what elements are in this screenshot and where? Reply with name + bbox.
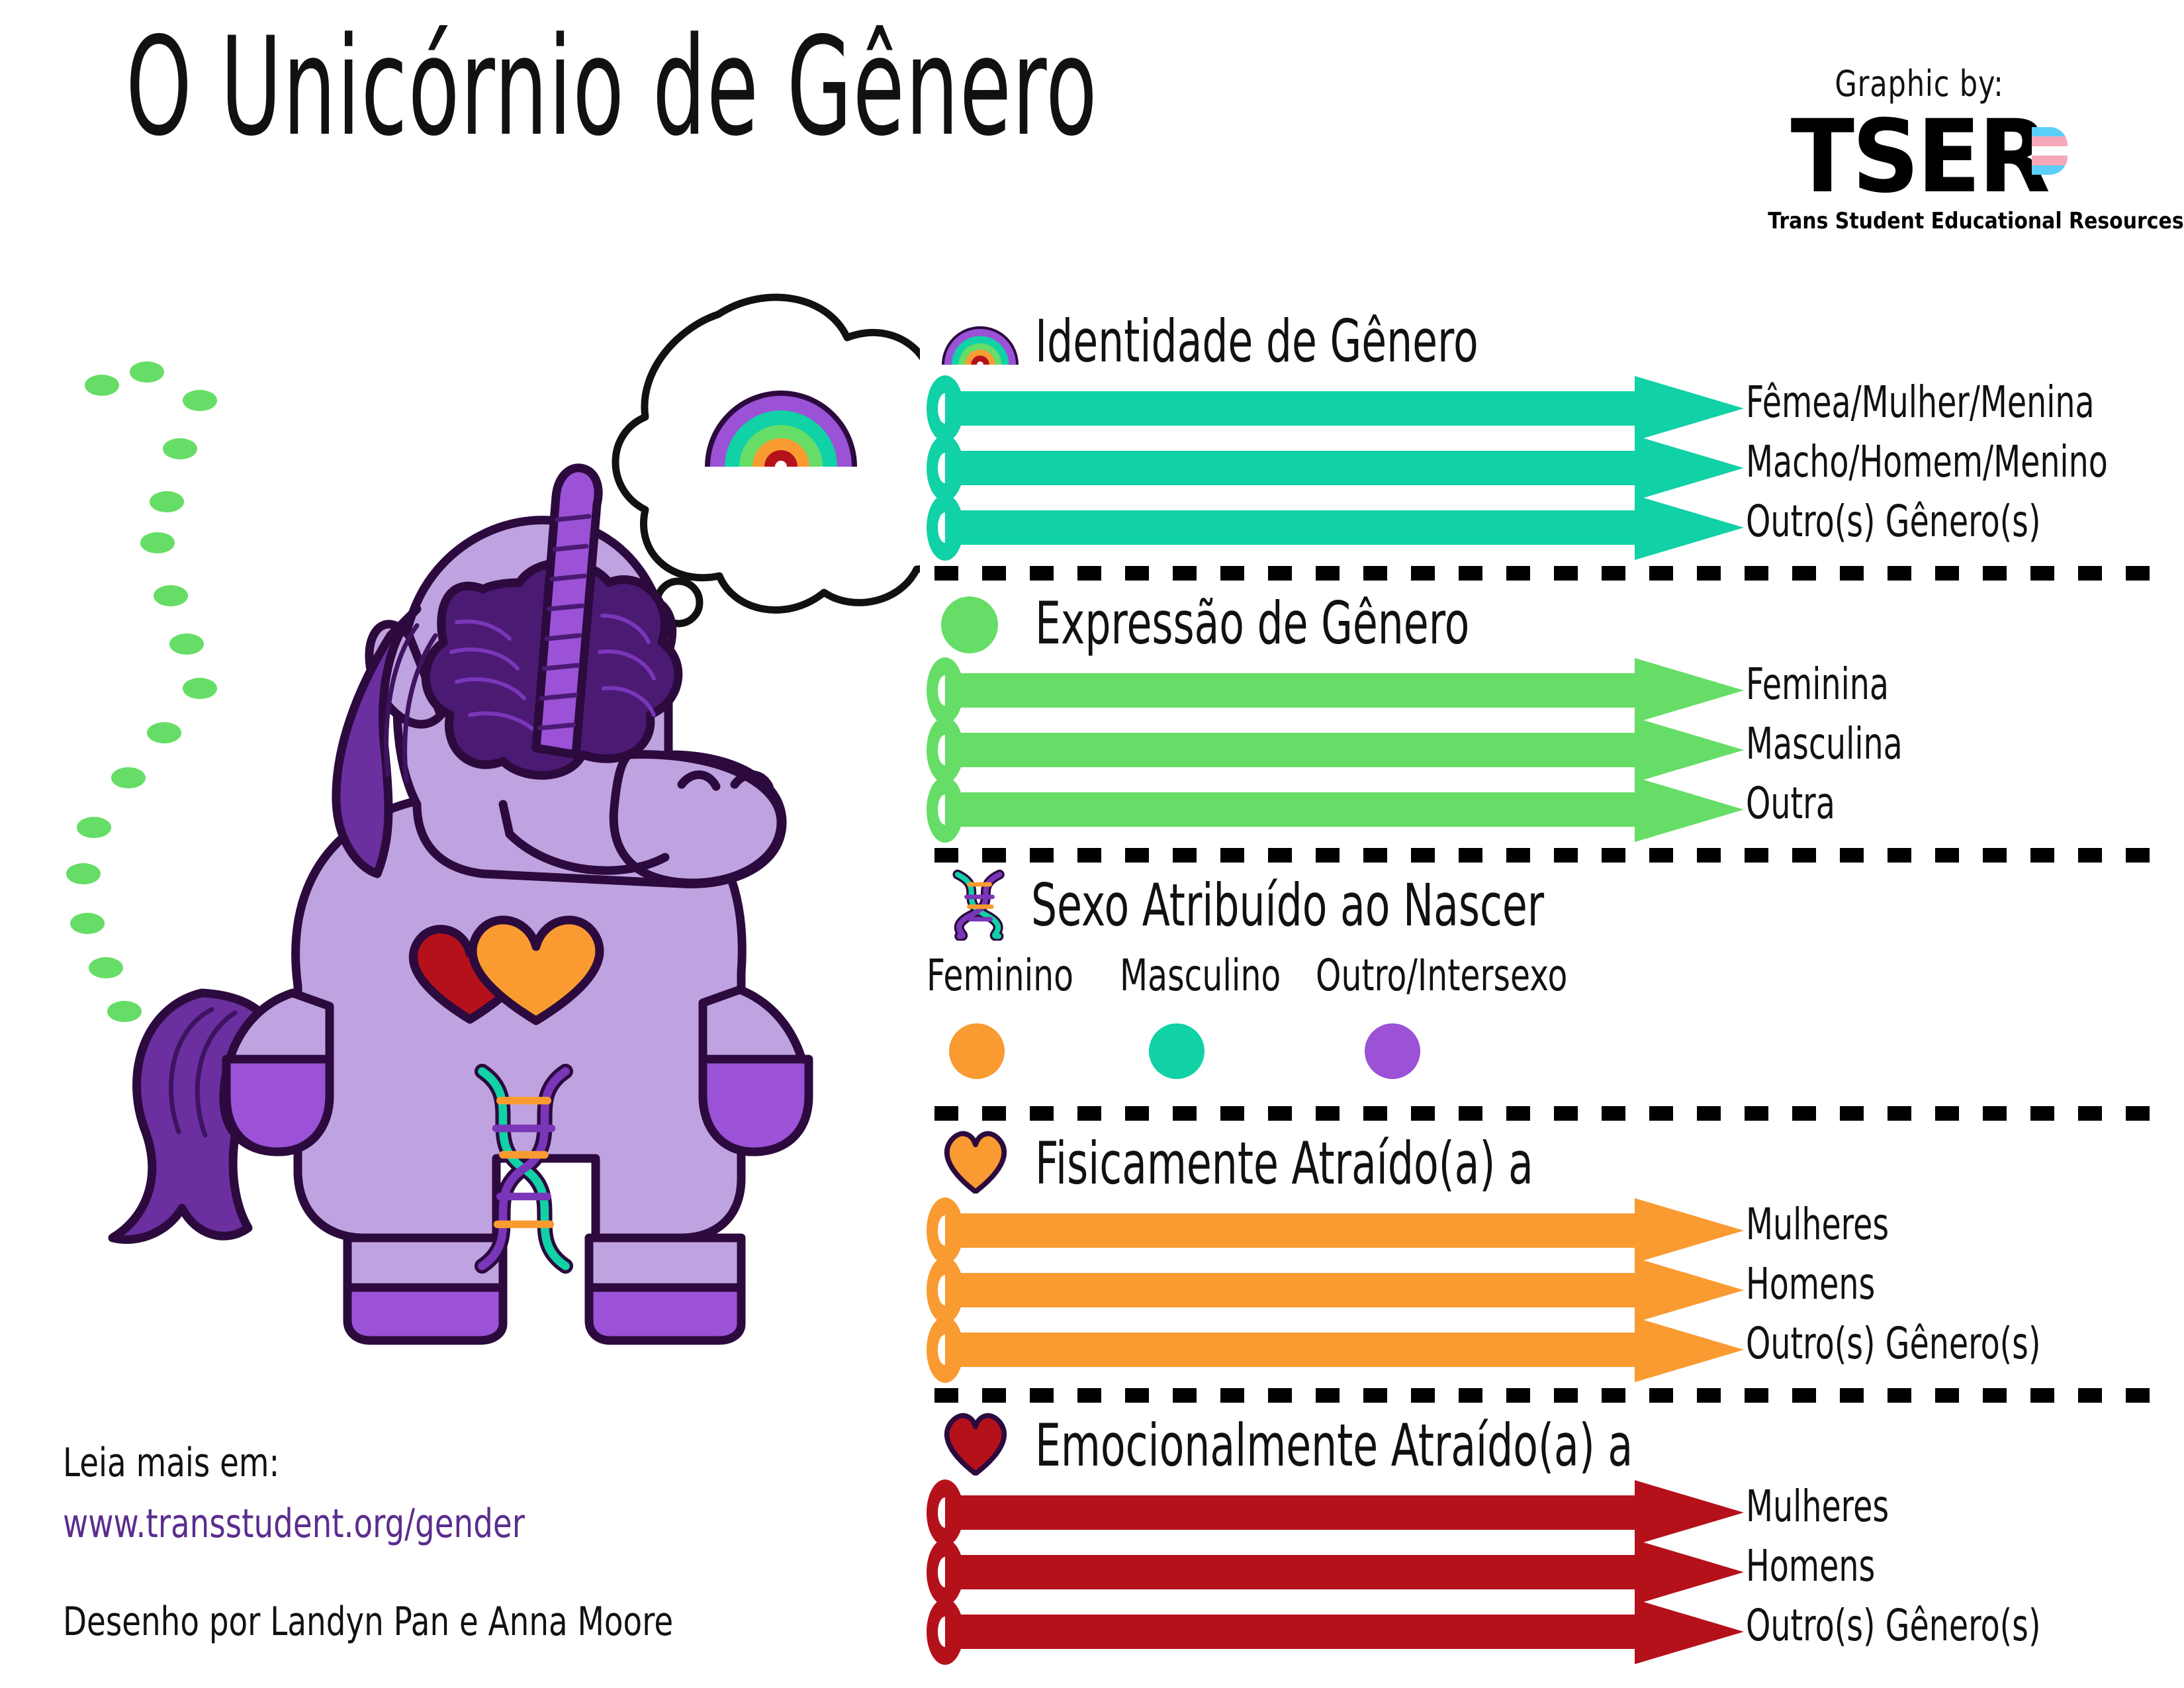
arrow-shaft xyxy=(945,1495,1639,1530)
sex-option-label: Feminino xyxy=(927,950,1073,1001)
arrow-head xyxy=(1635,658,1744,723)
arrow-shaft xyxy=(945,391,1639,426)
sex-option-female[interactable]: Feminino xyxy=(927,950,1125,1079)
arrow-label: Homens xyxy=(1746,1540,1875,1591)
section-title: Sexo Atribuído ao Nascer xyxy=(1031,871,1544,939)
red-heart-icon xyxy=(941,1409,1019,1481)
arrow-shaft xyxy=(945,1213,1639,1248)
sex-option-other-intersex[interactable]: Outro/Intersexo xyxy=(1316,950,1656,1079)
section-gender-identity: Identidade de Gênero Fêmea/Mulher/Menina… xyxy=(927,301,2164,555)
arrow-head xyxy=(1635,495,1744,560)
read-more-label: Leia mais em: xyxy=(63,1440,525,1486)
transstudent-link[interactable]: www.transstudent.org/gender xyxy=(63,1501,525,1547)
tser-subtitle: Trans Student Educational Resources xyxy=(1768,208,2071,234)
arrow-label: Mulheres xyxy=(1746,1481,1889,1532)
section-header: Emocionalmente Atraído(a) a xyxy=(927,1405,2164,1485)
arrow-label: Outro(s) Gênero(s) xyxy=(1746,1600,2040,1651)
unicorn-illustration xyxy=(46,291,920,1350)
arrow-row: Homens xyxy=(927,1262,2164,1318)
arrow-label: Mulheres xyxy=(1746,1199,1889,1250)
sections-column: Identidade de Gênero Fêmea/Mulher/Menina… xyxy=(927,301,2164,1660)
arrow-row: Outro(s) Gênero(s) xyxy=(927,500,2164,555)
green-dot-arc xyxy=(66,361,217,1091)
arrow-row: Fêmea/Mulher/Menina xyxy=(927,381,2164,436)
sex-options: Feminino Masculino Outro/Intersexo xyxy=(927,950,2164,1096)
arrow-rows: Mulheres Homens Outro(s) Gênero(s) xyxy=(927,1485,2164,1660)
orange-heart-icon xyxy=(941,1127,1019,1199)
trans-flag-icon xyxy=(2032,127,2068,175)
arrow-label: Homens xyxy=(1746,1258,1875,1309)
arrow-head xyxy=(1635,376,1744,441)
arrow-shaft xyxy=(945,792,1639,827)
arrow-row: Outro(s) Gênero(s) xyxy=(927,1604,2164,1660)
section-title: Expressão de Gênero xyxy=(1035,589,1469,657)
tser-logo-block: Graphic by: TSER Trans Student Education… xyxy=(1747,63,2091,234)
sex-option-label: Masculino xyxy=(1120,950,1281,1001)
sex-option-dot xyxy=(1149,1023,1205,1079)
arrow-rows: Fêmea/Mulher/Menina Macho/Homem/Menino O… xyxy=(927,381,2164,555)
arrow-head xyxy=(1635,777,1744,842)
section-header: Sexo Atribuído ao Nascer xyxy=(927,865,2164,945)
arrow-head xyxy=(1635,1258,1744,1323)
section-emotionally-attracted-to: Emocionalmente Atraído(a) a Mulheres Hom… xyxy=(927,1405,2164,1660)
arrow-row: Feminina xyxy=(927,663,2164,718)
section-gender-expression: Expressão de Gênero Feminina Masculina xyxy=(927,583,2164,837)
section-header: Identidade de Gênero xyxy=(927,301,2164,381)
infographic-page: O Unicórnio de Gênero Graphic by: TSER T… xyxy=(0,0,2184,1688)
arrow-label: Macho/Homem/Menino xyxy=(1746,436,2108,487)
arrow-label: Fêmea/Mulher/Menina xyxy=(1746,377,2095,428)
arrow-shaft xyxy=(945,1333,1639,1367)
arrow-shaft xyxy=(945,673,1639,708)
arrow-head xyxy=(1635,1198,1744,1263)
section-title: Identidade de Gênero xyxy=(1035,307,1479,375)
arrow-row: Outra xyxy=(927,782,2164,837)
section-divider xyxy=(934,848,2151,863)
sex-option-label: Outro/Intersexo xyxy=(1316,950,1567,1001)
section-physically-attracted-to: Fisicamente Atraído(a) a Mulheres Homens xyxy=(927,1123,2164,1378)
dna-icon xyxy=(949,869,1015,941)
section-sex-assigned-at-birth: Sexo Atribuído ao Nascer Feminino Mascul… xyxy=(927,865,2164,1096)
arrow-shaft xyxy=(945,1615,1639,1649)
arrow-rows: Mulheres Homens Outro(s) Gênero(s) xyxy=(927,1203,2164,1378)
arrow-head xyxy=(1635,1317,1744,1382)
page-title: O Unicórnio de Gênero xyxy=(126,20,1098,156)
arrow-label: Outra xyxy=(1746,778,1835,829)
credit-line: Desenho por Landyn Pan e Anna Moore xyxy=(63,1599,673,1645)
arrow-row: Macho/Homem/Menino xyxy=(927,440,2164,496)
arrow-head xyxy=(1635,1599,1744,1664)
arrow-head xyxy=(1635,718,1744,782)
sex-option-dot xyxy=(949,1023,1005,1079)
arrow-shaft xyxy=(945,733,1639,767)
section-divider xyxy=(934,1106,2151,1121)
arrow-row: Outro(s) Gênero(s) xyxy=(927,1322,2164,1378)
arrow-row: Mulheres xyxy=(927,1485,2164,1540)
arrow-row: Mulheres xyxy=(927,1203,2164,1258)
arrow-shaft xyxy=(945,1273,1639,1307)
section-header: Expressão de Gênero xyxy=(927,583,2164,663)
section-header: Fisicamente Atraído(a) a xyxy=(927,1123,2164,1203)
arrow-row: Masculina xyxy=(927,722,2164,778)
arrow-shaft xyxy=(945,1555,1639,1589)
unicorn-figure xyxy=(113,468,809,1340)
sex-option-male[interactable]: Masculino xyxy=(1120,950,1338,1079)
arrow-shaft xyxy=(945,451,1639,485)
circle-icon xyxy=(941,587,1019,659)
arrow-head xyxy=(1635,436,1744,500)
footer: Leia mais em: www.transstudent.org/gende… xyxy=(63,1440,655,1562)
sex-option-dot xyxy=(1365,1023,1420,1079)
section-divider xyxy=(934,566,2151,581)
section-title: Emocionalmente Atraído(a) a xyxy=(1035,1411,1633,1479)
arrow-shaft xyxy=(945,510,1639,545)
rainbow-icon xyxy=(941,305,1019,377)
arrow-label: Masculina xyxy=(1746,718,1903,769)
arrow-row: Homens xyxy=(927,1544,2164,1600)
section-title: Fisicamente Atraído(a) a xyxy=(1035,1129,1533,1197)
arrow-head xyxy=(1635,1480,1744,1545)
arrow-rows: Feminina Masculina Outra xyxy=(927,663,2164,837)
arrow-head xyxy=(1635,1540,1744,1605)
arrow-label: Feminina xyxy=(1746,659,1889,710)
arrow-label: Outro(s) Gênero(s) xyxy=(1746,1318,2040,1369)
section-divider xyxy=(934,1388,2151,1403)
arrow-label: Outro(s) Gênero(s) xyxy=(1746,496,2040,547)
tser-wordmark-wrap: TSER xyxy=(1747,107,2091,207)
